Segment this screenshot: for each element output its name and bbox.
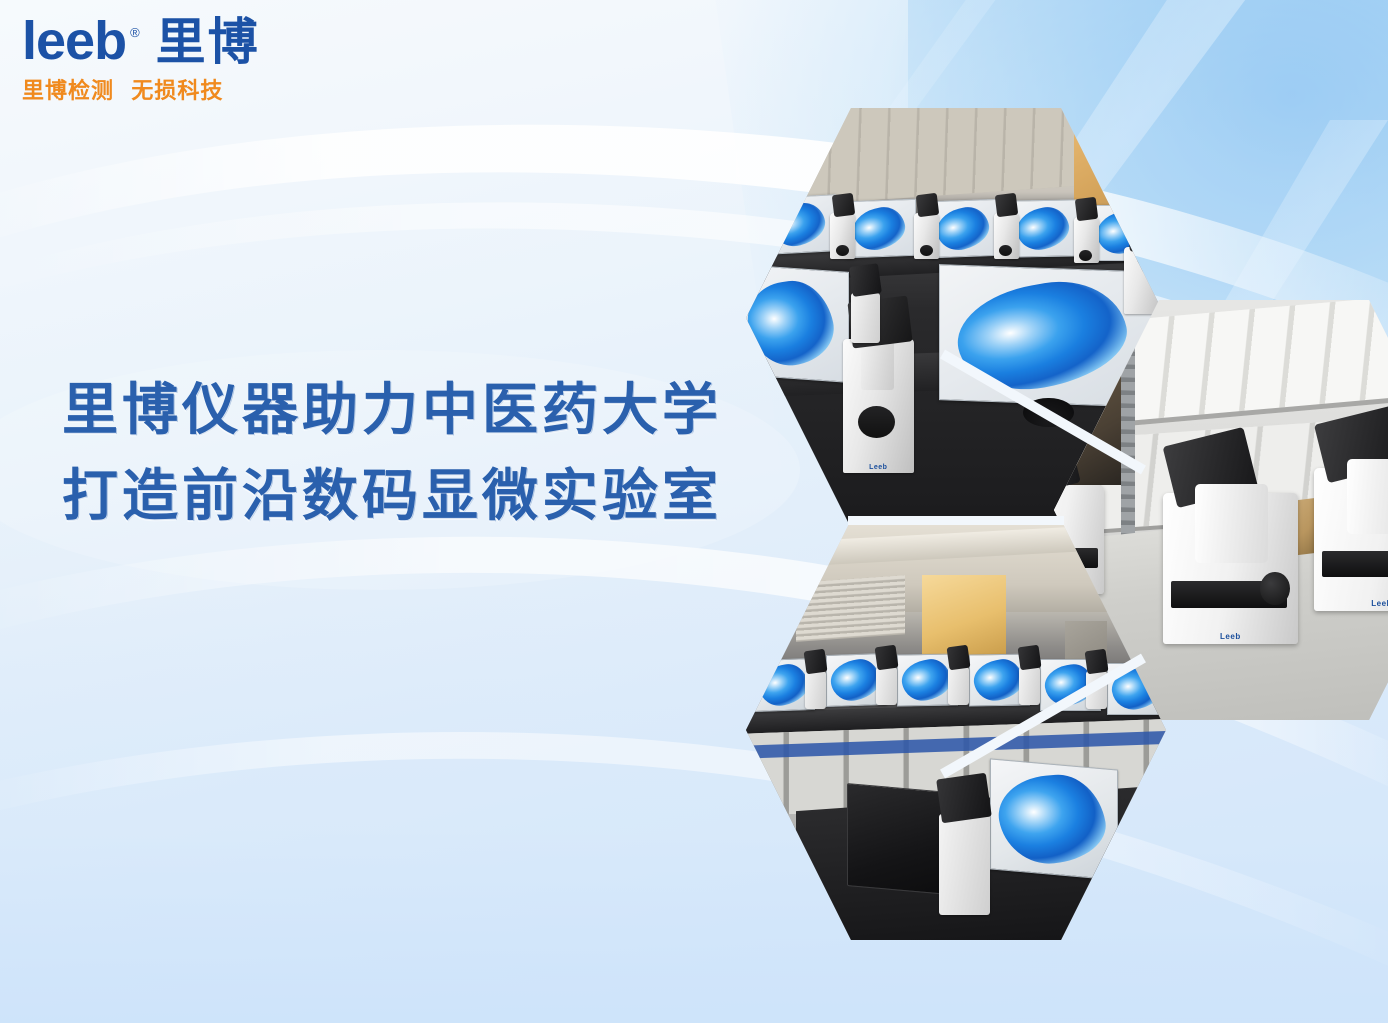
hexagon-photo-cluster: Leeb (738, 100, 1388, 945)
microscope-back-4 (1074, 217, 1099, 263)
monitor-mid-left (746, 264, 849, 383)
promo-banner: leeb ® 里博 里博检测 无损科技 里博仪器助力中医药大学 打造前沿数码显微… (0, 0, 1388, 1023)
camera-body (849, 263, 882, 297)
headline-line-1: 里博仪器助力中医药大学 (62, 368, 752, 454)
microscope-main-a[interactable]: Leeb (1163, 493, 1297, 644)
microscope-foreground[interactable]: Leeb (843, 339, 914, 473)
logo-wordmark-row: leeb ® 里博 (22, 14, 322, 68)
microscope-head (1126, 217, 1161, 253)
monitor-back-3 (931, 199, 1000, 258)
monitor-back-2 (847, 199, 916, 258)
objective-turret (920, 245, 933, 256)
microscope-head (831, 192, 855, 217)
headline-line-2: 打造前沿数码显微实验室 (62, 454, 752, 540)
monitor-back-1 (767, 194, 836, 254)
microscope-main-b[interactable]: Leeb (1314, 468, 1388, 611)
objective-turret (999, 245, 1012, 256)
objective-turret (836, 245, 849, 256)
microscope-head (1075, 197, 1099, 222)
microscope-arm (1347, 459, 1388, 533)
microscope-head (946, 645, 970, 670)
microscope-head (915, 192, 939, 217)
microscope-head (875, 645, 899, 670)
logo-latin-wordmark: leeb (22, 14, 126, 68)
lab-microscope-4 (1019, 667, 1040, 705)
window-blinds (796, 575, 905, 641)
microscope-head (936, 772, 992, 823)
device-brand-label: Leeb (843, 464, 914, 471)
lab-microscope-5 (1086, 671, 1107, 709)
microscope-head (1085, 649, 1109, 674)
lab-microscope-3 (948, 667, 969, 705)
objective-turret (858, 406, 895, 438)
microscope-arm (1195, 484, 1268, 563)
microscope-back-1 (830, 213, 855, 259)
lab-microscope-1 (805, 671, 826, 709)
camera-tube (851, 293, 880, 343)
foreground-monitor-bright (990, 758, 1118, 880)
monitor-stand (1023, 398, 1073, 427)
microscope-right-edge (1124, 247, 1162, 314)
device-brand-label: Leeb (1163, 632, 1297, 641)
foreground-microscope[interactable] (939, 814, 989, 915)
objective-turret (1079, 250, 1092, 261)
device-brand-label: Leeb (1314, 599, 1388, 608)
microscope-head (995, 192, 1019, 217)
lab-microscope-2 (876, 667, 897, 705)
headline-block: 里博仪器助力中医药大学 打造前沿数码显微实验室 (62, 368, 752, 540)
microscope-back-2 (914, 213, 939, 259)
focus-knob (1260, 572, 1290, 605)
brand-logo[interactable]: leeb ® 里博 里博检测 无损科技 (22, 14, 322, 105)
microscope-back-3 (994, 213, 1019, 259)
microscope-head (803, 649, 827, 674)
registered-trademark-icon: ® (130, 26, 140, 39)
logo-chinese-wordmark: 里博 (156, 17, 260, 67)
monitor-back-4 (1011, 200, 1080, 258)
microscope-head (1018, 645, 1042, 670)
logo-tagline: 里博检测 无损科技 (22, 73, 322, 105)
microscope-stage (1322, 551, 1388, 577)
